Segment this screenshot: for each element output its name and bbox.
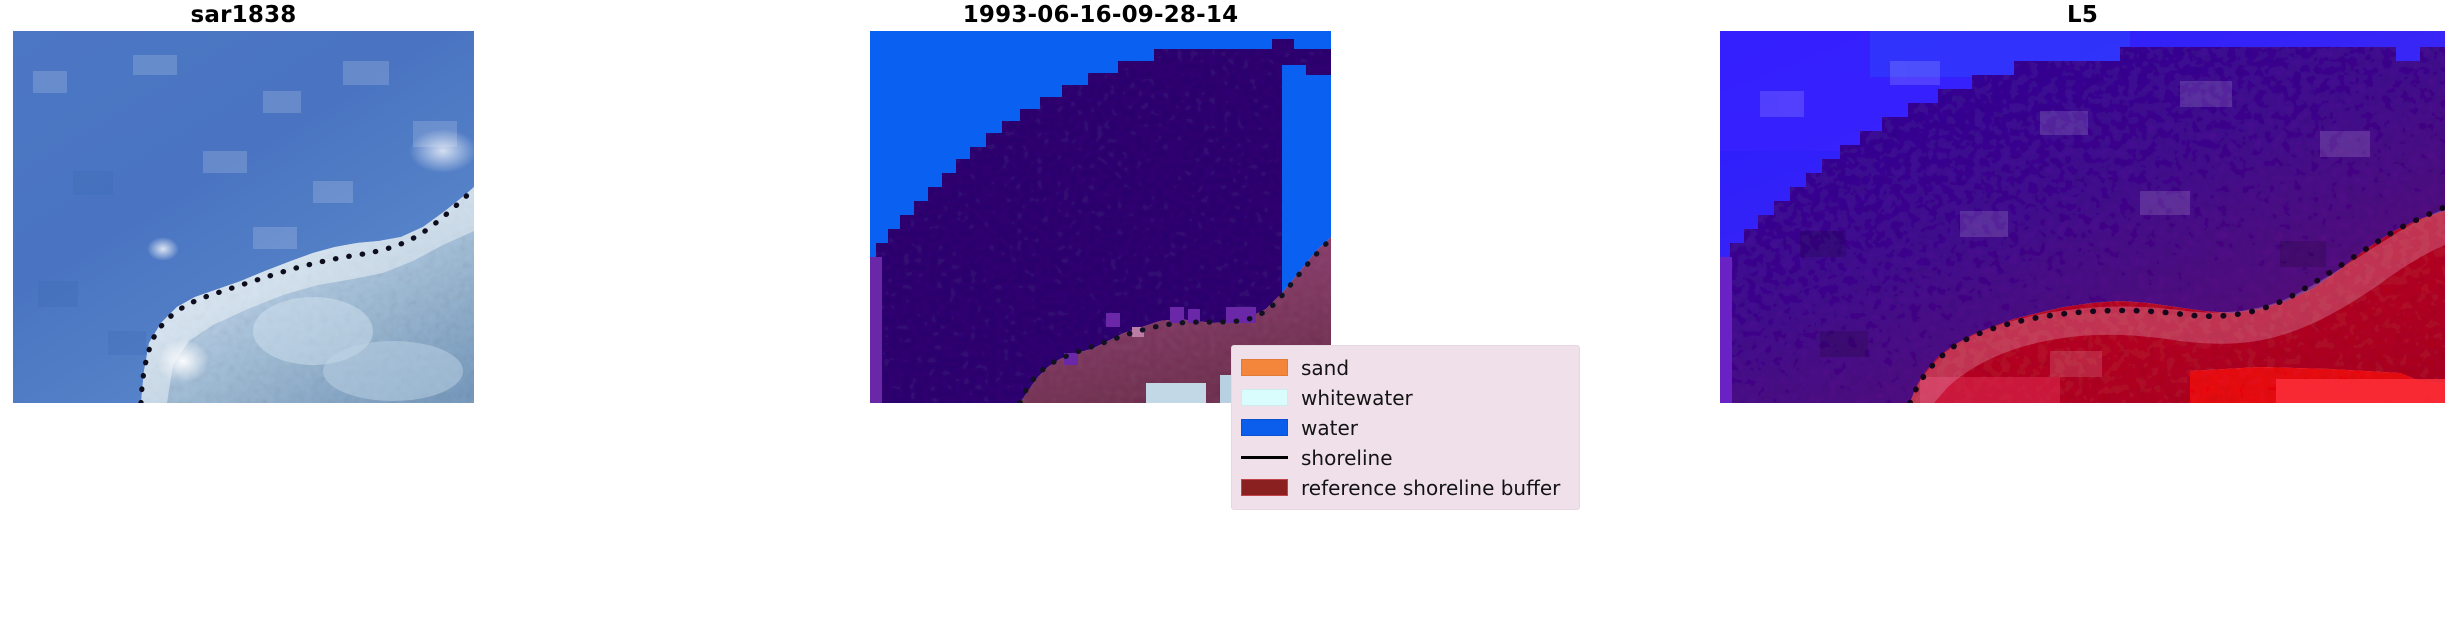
reference-buffer-swatch-icon	[1241, 479, 1288, 496]
water-swatch-icon	[1241, 419, 1288, 436]
legend-item-reference-buffer[interactable]: reference shoreline buffer	[1241, 474, 1569, 501]
panel-sar: sar1838	[13, 31, 474, 403]
legend-item-sand[interactable]: sand	[1241, 354, 1569, 381]
axes-l5[interactable]	[1720, 31, 2445, 403]
panel-title-sar: sar1838	[13, 3, 474, 27]
figure-root: sar1838	[0, 0, 2460, 644]
l5-purple-left-strip	[1720, 257, 1732, 403]
panel-title-classification: 1993-06-16-09-28-14	[870, 3, 1331, 27]
legend-item-whitewater[interactable]: whitewater	[1241, 384, 1569, 411]
l5-bright-red-block	[2276, 379, 2445, 403]
panel-title-l5: L5	[1720, 3, 2445, 27]
legend-item-water[interactable]: water	[1241, 414, 1569, 441]
legend-label-reference-buffer: reference shoreline buffer	[1301, 478, 1560, 498]
sand-swatch-icon	[1241, 359, 1288, 376]
legend-item-shoreline[interactable]: shoreline	[1241, 444, 1569, 471]
sar-image	[13, 31, 474, 403]
sar-bright-spot-5	[323, 341, 463, 401]
panel-l5: L5	[1720, 31, 2445, 403]
legend-label-sand: sand	[1301, 358, 1349, 378]
legend-label-whitewater: whitewater	[1301, 388, 1413, 408]
axes-sar[interactable]	[13, 31, 474, 403]
legend-label-water: water	[1301, 418, 1358, 438]
legend-box[interactable]: sand whitewater water shoreline referenc…	[1231, 345, 1580, 510]
whitewater-swatch-icon	[1241, 389, 1288, 406]
sar-bright-spot-1	[157, 339, 209, 383]
sar-bright-spot-2	[147, 237, 179, 261]
shoreline-line-icon	[1241, 449, 1288, 466]
l5-image	[1720, 31, 2445, 403]
classification-buffer-left	[870, 257, 882, 403]
legend-label-shoreline: shoreline	[1301, 448, 1393, 468]
